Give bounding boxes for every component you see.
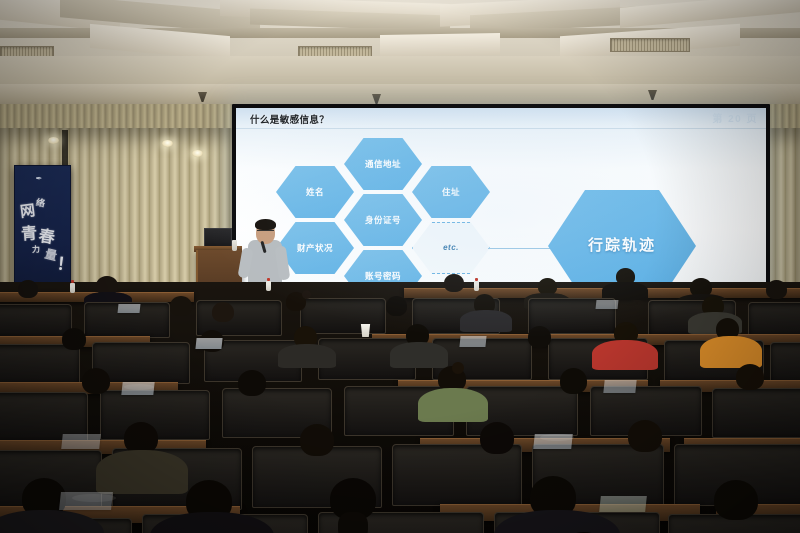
- hexagon-label: 身份证号: [365, 216, 401, 225]
- banner-logo-icon: ✒: [28, 175, 50, 183]
- name-card: [599, 496, 647, 512]
- glasses-icon: [257, 230, 274, 234]
- seat-back: [0, 344, 80, 386]
- air-vent: [610, 38, 690, 52]
- ceiling-beam: [380, 33, 500, 57]
- name-card: [118, 304, 141, 313]
- banner-character: ！: [56, 249, 76, 276]
- audience-shoulders-orange-jacket: [700, 336, 762, 368]
- audience-head: [528, 326, 551, 348]
- water-bottle: [474, 281, 479, 291]
- hexagon-label: 账号密码: [365, 272, 401, 281]
- ponytail: [338, 512, 368, 533]
- audience-shoulders-patterned: [96, 450, 188, 494]
- name-card: [59, 492, 113, 510]
- seat-back: [770, 342, 800, 384]
- audience-head: [18, 280, 38, 298]
- banner-character: 络: [35, 195, 46, 209]
- slide-title: 什么是敏感信息？: [250, 112, 329, 126]
- hexagon-communication-address: 通信地址: [344, 138, 422, 190]
- banner-character: 力: [32, 244, 41, 255]
- seat-back: [748, 302, 800, 338]
- paper-cup: [360, 324, 371, 337]
- audience-head: [238, 370, 266, 396]
- audience-head: [766, 280, 787, 299]
- hair-bun: [452, 362, 464, 374]
- name-card: [195, 338, 222, 349]
- name-card: [603, 380, 636, 393]
- water-bottle: [232, 240, 237, 251]
- audience-desk: [404, 288, 634, 298]
- name-card: [459, 336, 486, 347]
- audience-head: [62, 328, 86, 350]
- slide-page-number: 第 20 页: [712, 110, 758, 125]
- name-card: [533, 434, 573, 449]
- audience-head: [560, 368, 587, 394]
- seat-back: [0, 304, 72, 338]
- projection-screen: 什么是敏感信息？ 第 20 页 通信地址 姓名 住址 身份证号 财产状况 账号密…: [236, 108, 766, 311]
- audience-head: [736, 364, 764, 390]
- ceiling-face: [0, 56, 800, 84]
- audience-head: [300, 424, 334, 456]
- lecture-hall-photo: 什么是敏感信息？ 第 20 页 通信地址 姓名 住址 身份证号 财产状况 账号密…: [0, 0, 800, 533]
- audience-head: [628, 420, 662, 452]
- audience-head: [82, 368, 110, 394]
- hexagon-residence: 住址: [412, 166, 490, 218]
- audience-shoulders-olive-shirt: [418, 388, 488, 422]
- seat-back: [712, 388, 800, 438]
- hair-bun: [302, 290, 311, 299]
- hexagon-id-number: 身份证号: [344, 194, 422, 246]
- ceiling-downlight: [48, 137, 59, 144]
- audience-head: [170, 296, 192, 316]
- hexagon-label: 姓名: [306, 188, 324, 197]
- presenter-hair: [255, 219, 276, 230]
- audience-head: [212, 302, 234, 322]
- audience-seating-area: [0, 282, 800, 533]
- audience-shoulders: [390, 342, 448, 368]
- slide-title-divider: [236, 128, 766, 129]
- audience-shoulders-red-jacket: [592, 340, 658, 370]
- hexagon-label: 财产状况: [297, 244, 333, 253]
- hexagon-label: 通信地址: [365, 160, 401, 169]
- hexagon-label: 行踪轨迹: [588, 238, 656, 254]
- name-card: [596, 300, 619, 309]
- banner-character: 青: [20, 219, 38, 244]
- water-bottle: [70, 283, 75, 293]
- flow-connector-arrow: [488, 248, 556, 249]
- audience-head: [714, 480, 758, 520]
- audience-head: [386, 296, 407, 316]
- audience-head: [480, 422, 514, 454]
- name-card: [61, 434, 101, 449]
- audience-head: [444, 274, 464, 292]
- hexagon-label: 住址: [442, 188, 460, 197]
- name-card: [121, 382, 154, 395]
- ceiling-downlight: [192, 150, 203, 157]
- water-bottle: [266, 281, 271, 291]
- audience-shoulders: [460, 310, 512, 332]
- hexagon-name: 姓名: [276, 166, 354, 218]
- ceiling-downlight: [162, 140, 173, 147]
- hexagon-etc-dashed-outline: [412, 222, 490, 274]
- banner-character: 网: [19, 199, 36, 222]
- audience-shoulders: [278, 344, 336, 368]
